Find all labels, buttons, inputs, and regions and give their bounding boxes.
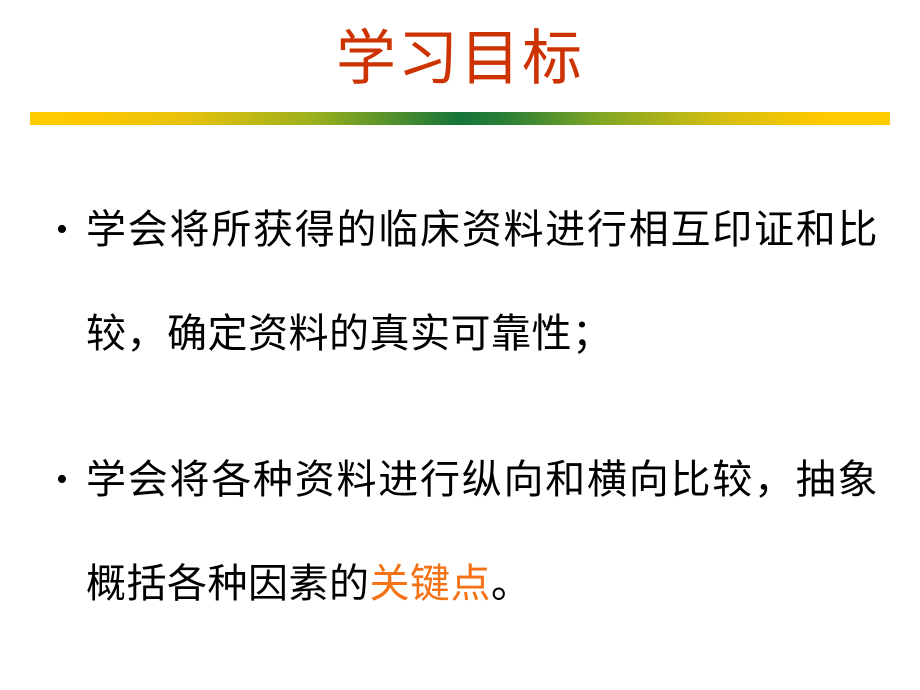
presentation-slide: 学习目标 • 学会将所获得的临床资料进行相互印证和比较，确定资料的真实可靠性； …: [0, 0, 920, 690]
list-item-text: 学会将所获得的临床资料进行相互印证和比较，确定资料的真实可靠性；: [86, 178, 878, 386]
title-divider: [30, 112, 890, 125]
slide-body: • 学会将所获得的临床资料进行相互印证和比较，确定资料的真实可靠性； • 学会将…: [48, 178, 878, 636]
list-item: • 学会将所获得的临床资料进行相互印证和比较，确定资料的真实可靠性；: [48, 178, 878, 386]
list-item: • 学会将各种资料进行纵向和横向比较，抽象概括各种因素的关键点。: [48, 428, 878, 636]
bullet-marker-icon: •: [56, 428, 80, 532]
bullet-marker-icon: •: [56, 178, 80, 282]
bullet-2-highlight: 关键点: [370, 561, 492, 606]
bullet-2-segment-3: 。: [491, 561, 532, 606]
list-item-text: 学会将各种资料进行纵向和横向比较，抽象概括各种因素的关键点。: [86, 428, 878, 636]
gradient-rule: [30, 112, 890, 125]
slide-title-area: 学习目标: [0, 18, 920, 100]
bullet-1-segment-1: 学会将所获得的临床资料进行相互印证和比较，确定资料的真实可靠性；: [86, 207, 878, 356]
page-title: 学习目标: [336, 29, 584, 89]
